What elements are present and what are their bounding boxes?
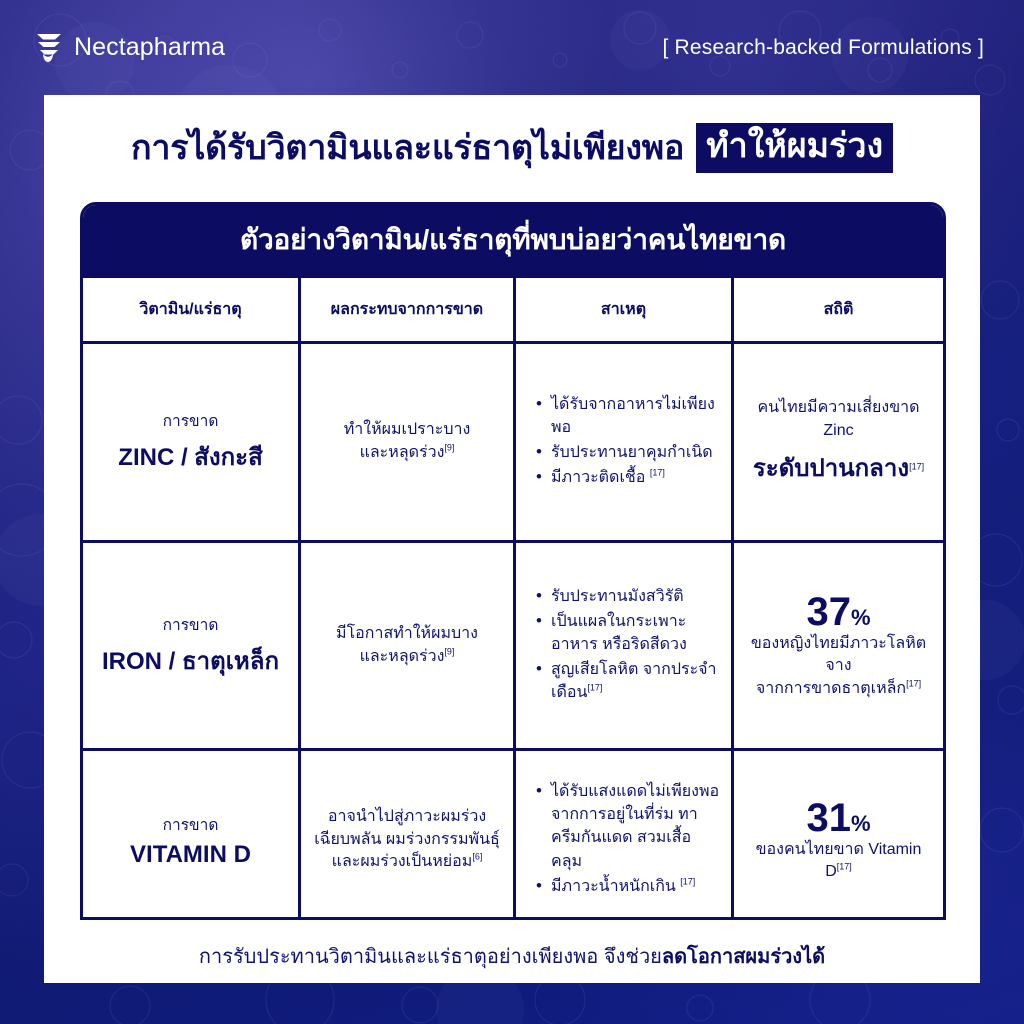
- page-header: Nectapharma [ Research-backed Formulatio…: [0, 0, 1024, 95]
- effect-ref: [6]: [472, 852, 482, 862]
- cause-text: เป็นแผลในกระเพาะอาหาร หรือริดสีดวง: [551, 613, 687, 653]
- cell-effect: อาจนำไปสู่ภาวะผมร่วง เฉียบพลัน ผมร่วงกรร…: [298, 751, 513, 920]
- list-item: รับประทานมังสวิรัติ: [534, 585, 721, 608]
- stat-headline: คนไทยมีความเสี่ยงขาด Zinc: [744, 397, 933, 442]
- cause-text: ได้รับแสงแดดไม่เพียงพอ จากการอยู่ในที่ร่…: [551, 783, 719, 870]
- cell-cause: ได้รับแสงแดดไม่เพียงพอ จากการอยู่ในที่ร่…: [513, 751, 731, 920]
- effect-line: และหลุดร่วง: [360, 648, 445, 665]
- table-row: การขาด ZINC / สังกะสี ทำให้ผมเปราะบาง แล…: [83, 341, 943, 540]
- stat-ref: [17]: [837, 862, 852, 872]
- stat-ref: [17]: [906, 678, 921, 688]
- stat-sub-line: ของหญิงไทยมีภาวะโลหิตจาง: [751, 635, 926, 674]
- nutrient-name: ZINC / สังกะสี: [118, 437, 262, 476]
- footer-normal-text: การรับประทานวิตามินและแร่ธาตุอย่างเพียงพ…: [199, 946, 662, 968]
- stat-strong-wrap: ระดับปานกลาง[17]: [753, 448, 924, 487]
- cause-list: รับประทานมังสวิรัติ เป็นแผลในกระเพาะอาหา…: [526, 585, 721, 707]
- stat-ref: [17]: [909, 462, 924, 472]
- cause-ref: [17]: [650, 468, 665, 478]
- column-header-effect: ผลกระทบจากการขาด: [298, 278, 513, 341]
- effect-line: มีโอกาสทำให้ผมบาง: [336, 625, 478, 642]
- table-header-row: วิตามิน/แร่ธาตุ ผลกระทบจากการขาด สาเหตุ …: [83, 275, 943, 341]
- content-card: การได้รับวิตามินและแร่ธาตุไม่เพียงพอ ทำใ…: [44, 95, 980, 983]
- list-item: สูญเสียโลหิต จากประจำเดือน[17]: [534, 658, 721, 704]
- stat-subtext: ของหญิงไทยมีภาวะโลหิตจาง จากการขาดธาตุเห…: [744, 633, 933, 700]
- cause-text: มีภาวะน้ำหนักเกิน: [551, 878, 676, 895]
- effect-text: อาจนำไปสู่ภาวะผมร่วง เฉียบพลัน ผมร่วงกรร…: [314, 806, 500, 874]
- title-highlight-text: ทำให้ผมร่วง: [696, 123, 893, 173]
- cell-effect: ทำให้ผมเปราะบาง และหลุดร่วง[9]: [298, 344, 513, 540]
- cell-nutrient: การขาด ZINC / สังกะสี: [83, 344, 298, 540]
- nutrient-name: IRON / ธาตุเหล็ก: [102, 641, 279, 680]
- cause-ref: [17]: [587, 683, 602, 693]
- stat-percent-sign: %: [851, 811, 871, 836]
- nutrient-lead: การขาด: [163, 612, 219, 637]
- list-item: มีภาวะน้ำหนักเกิน [17]: [534, 875, 721, 898]
- cause-text: รับประทานยาคุมกำเนิด: [551, 444, 713, 461]
- cell-stat: 31% ของคนไทยขาด Vitamin D[17]: [731, 751, 943, 920]
- effect-text: ทำให้ผมเปราะบาง และหลุดร่วง[9]: [344, 419, 471, 464]
- cause-list: ได้รับจากอาหารไม่เพียงพอ รับประทานยาคุมก…: [526, 393, 721, 492]
- list-item: ได้รับแสงแดดไม่เพียงพอ จากการอยู่ในที่ร่…: [534, 780, 721, 873]
- nutrient-lead: การขาด: [163, 812, 219, 837]
- cell-effect: มีโอกาสทำให้ผมบาง และหลุดร่วง[9]: [298, 543, 513, 748]
- stat-sub-line: จากการขาดธาตุเหล็ก: [756, 680, 906, 697]
- stat-subtext: ของคนไทยขาด Vitamin D[17]: [744, 839, 933, 884]
- effect-line: และผมร่วงเป็นหย่อม: [332, 853, 473, 870]
- effect-line: เฉียบพลัน ผมร่วงกรรมพันธุ์: [314, 831, 500, 848]
- list-item: ได้รับจากอาหารไม่เพียงพอ: [534, 393, 721, 439]
- stat-number: 37: [806, 590, 851, 634]
- nutrient-lead: การขาด: [163, 408, 219, 433]
- column-header-cause: สาเหตุ: [513, 278, 731, 341]
- header-tagline: [ Research-backed Formulations ]: [662, 36, 984, 60]
- title-main-text: การได้รับวิตามินและแร่ธาตุไม่เพียงพอ: [131, 129, 684, 168]
- stat-sub-line: ของคนไทยขาด Vitamin D: [756, 841, 922, 880]
- table-row: การขาด VITAMIN D อาจนำไปสู่ภาวะผมร่วง เฉ…: [83, 748, 943, 920]
- effect-line: อาจนำไปสู่ภาวะผมร่วง: [328, 808, 486, 825]
- effect-ref: [9]: [444, 443, 454, 453]
- cell-cause: รับประทานมังสวิรัติ เป็นแผลในกระเพาะอาหา…: [513, 543, 731, 748]
- brand-logo[interactable]: Nectapharma: [36, 33, 225, 63]
- table-row: การขาด IRON / ธาตุเหล็ก มีโอกาสทำให้ผมบา…: [83, 540, 943, 748]
- cell-stat: คนไทยมีความเสี่ยงขาด Zinc ระดับปานกลาง[1…: [731, 344, 943, 540]
- cause-text: มีภาวะติดเชื้อ: [551, 469, 645, 486]
- cause-text: สูญเสียโลหิต จากประจำเดือน: [551, 661, 717, 701]
- stat-strong: ระดับปานกลาง: [753, 455, 909, 482]
- stat-percent-sign: %: [851, 605, 871, 630]
- stat-number-wrap: 31%: [806, 797, 870, 839]
- stat-number: 31: [806, 796, 851, 840]
- nutrient-table: ตัวอย่างวิตามิน/แร่ธาตุที่พบบ่อยว่าคนไทย…: [80, 202, 946, 920]
- effect-line: ทำให้ผมเปราะบาง: [344, 421, 471, 438]
- table-caption: ตัวอย่างวิตามิน/แร่ธาตุที่พบบ่อยว่าคนไทย…: [83, 205, 943, 275]
- column-header-nutrient: วิตามิน/แร่ธาตุ: [83, 278, 298, 341]
- cell-cause: ได้รับจากอาหารไม่เพียงพอ รับประทานยาคุมก…: [513, 344, 731, 540]
- list-item: เป็นแผลในกระเพาะอาหาร หรือริดสีดวง: [534, 610, 721, 656]
- list-item: รับประทานยาคุมกำเนิด: [534, 441, 721, 464]
- cause-text: ได้รับจากอาหารไม่เพียงพอ: [551, 396, 715, 436]
- column-header-stat: สถิติ: [731, 278, 943, 341]
- cell-nutrient: การขาด IRON / ธาตุเหล็ก: [83, 543, 298, 748]
- list-item: มีภาวะติดเชื้อ [17]: [534, 466, 721, 489]
- stat-number-wrap: 37%: [806, 591, 870, 633]
- leaf-droplet-icon: [36, 33, 62, 63]
- page-title: การได้รับวิตามินและแร่ธาตุไม่เพียงพอ ทำใ…: [44, 123, 980, 173]
- brand-name: Nectapharma: [74, 33, 225, 62]
- effect-text: มีโอกาสทำให้ผมบาง และหลุดร่วง[9]: [336, 623, 478, 668]
- cause-list: ได้รับแสงแดดไม่เพียงพอ จากการอยู่ในที่ร่…: [526, 780, 721, 900]
- cell-nutrient: การขาด VITAMIN D: [83, 751, 298, 920]
- cell-stat: 37% ของหญิงไทยมีภาวะโลหิตจาง จากการขาดธา…: [731, 543, 943, 748]
- footer-message: การรับประทานวิตามินและแร่ธาตุอย่างเพียงพ…: [44, 940, 980, 972]
- cause-ref: [17]: [680, 876, 695, 886]
- effect-line: และหลุดร่วง: [360, 444, 445, 461]
- effect-ref: [9]: [444, 646, 454, 656]
- cause-text: รับประทานมังสวิรัติ: [551, 588, 684, 605]
- footer-bold-text: ลดโอกาสผมร่วงได้: [662, 946, 825, 968]
- nutrient-name: VITAMIN D: [130, 841, 251, 869]
